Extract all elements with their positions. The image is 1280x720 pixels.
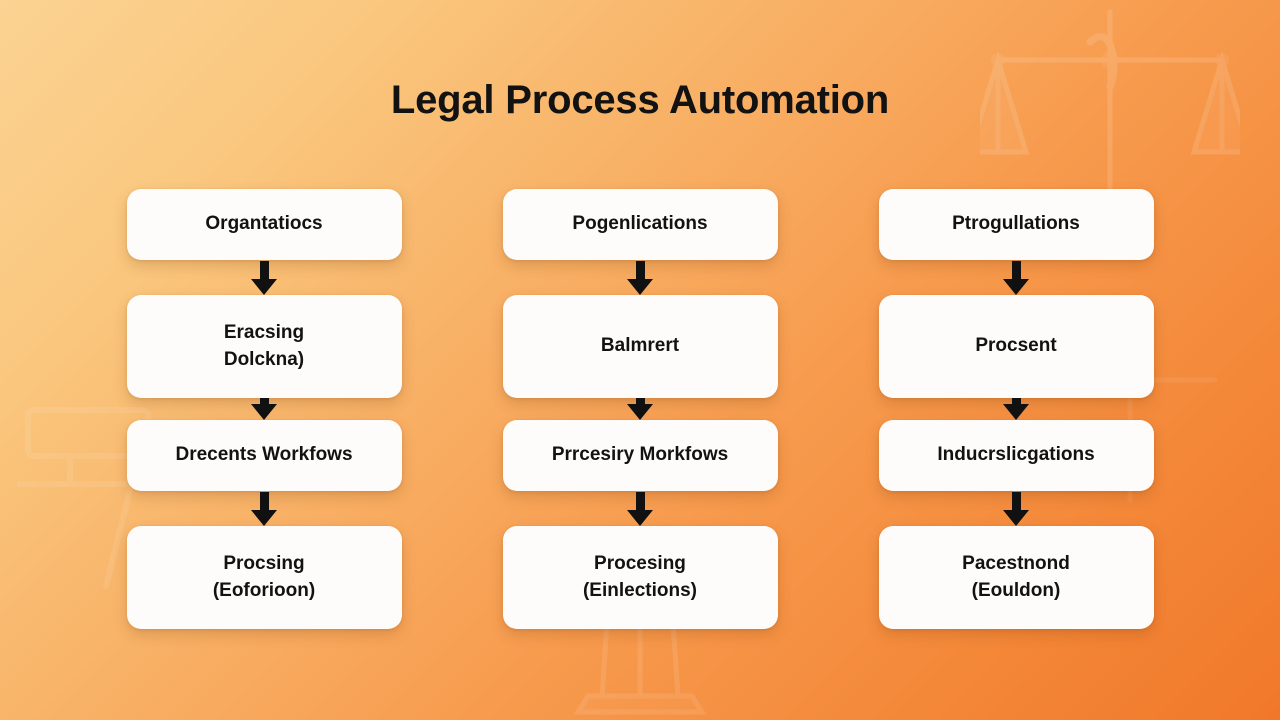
flow-node[interactable]: Procsing (Eoforioon)	[127, 526, 402, 629]
flowchart-columns: Organtatiocs Eracsing Dolckna) Drecents …	[0, 189, 1280, 629]
arrow-stem	[636, 492, 645, 511]
node-line: Procesing	[583, 551, 697, 578]
node-line: Inducrslicgations	[937, 442, 1094, 469]
node-line: Balmrert	[601, 333, 679, 360]
flow-arrow-down-icon	[1003, 398, 1029, 420]
node-line: Pogenlications	[572, 211, 707, 238]
flow-column-3: Ptrogullations Procsent Inducrslicgation…	[879, 189, 1154, 629]
node-line: Ptrogullations	[952, 211, 1080, 238]
arrow-head	[627, 404, 653, 420]
node-line: Dolckna)	[224, 347, 304, 374]
arrow-stem	[636, 261, 645, 280]
node-line: (Eouldon)	[962, 578, 1070, 605]
node-line: (Einlections)	[583, 578, 697, 605]
flow-arrow-down-icon	[627, 398, 653, 420]
node-line: (Eoforioon)	[213, 578, 315, 605]
page-title: Legal Process Automation	[0, 78, 1280, 123]
flow-node[interactable]: Pogenlications	[503, 189, 778, 260]
flow-arrow-down-icon	[1003, 491, 1029, 526]
flow-node[interactable]: Pacestnond (Eouldon)	[879, 526, 1154, 629]
flow-column-1: Organtatiocs Eracsing Dolckna) Drecents …	[127, 189, 402, 629]
node-line: Prrcesiry Morkfows	[552, 442, 728, 469]
flow-column-2: Pogenlications Balmrert Prrcesiry Morkfo…	[503, 189, 778, 629]
arrow-head	[251, 510, 277, 526]
arrow-head	[1003, 510, 1029, 526]
flow-node[interactable]: Procesing (Einlections)	[503, 526, 778, 629]
diagram-canvas: Legal Process Automation Organtatiocs Er…	[0, 0, 1280, 720]
arrow-head	[627, 279, 653, 295]
flow-arrow-down-icon	[627, 260, 653, 295]
flow-arrow-down-icon	[627, 491, 653, 526]
arrow-stem	[260, 261, 269, 280]
flow-node[interactable]: Eracsing Dolckna)	[127, 295, 402, 398]
arrow-head	[1003, 279, 1029, 295]
flow-node[interactable]: Organtatiocs	[127, 189, 402, 260]
arrow-head	[251, 279, 277, 295]
flow-node[interactable]: Ptrogullations	[879, 189, 1154, 260]
arrow-stem	[260, 492, 269, 511]
node-line: Pacestnond	[962, 551, 1070, 578]
arrow-head	[627, 510, 653, 526]
flow-arrow-down-icon	[1003, 260, 1029, 295]
flow-node[interactable]: Inducrslicgations	[879, 420, 1154, 491]
flow-arrow-down-icon	[251, 491, 277, 526]
node-line: Organtatiocs	[205, 211, 322, 238]
arrow-head	[251, 404, 277, 420]
arrow-head	[1003, 404, 1029, 420]
flow-node[interactable]: Prrcesiry Morkfows	[503, 420, 778, 491]
flow-arrow-down-icon	[251, 398, 277, 420]
node-line: Drecents Workfows	[175, 442, 352, 469]
flow-node[interactable]: Balmrert	[503, 295, 778, 398]
flow-node[interactable]: Drecents Workfows	[127, 420, 402, 491]
node-line: Eracsing	[224, 320, 304, 347]
node-line: Procsing	[213, 551, 315, 578]
flow-arrow-down-icon	[251, 260, 277, 295]
flow-node[interactable]: Procsent	[879, 295, 1154, 398]
arrow-stem	[1012, 492, 1021, 511]
arrow-stem	[1012, 261, 1021, 280]
node-line: Procsent	[975, 333, 1056, 360]
